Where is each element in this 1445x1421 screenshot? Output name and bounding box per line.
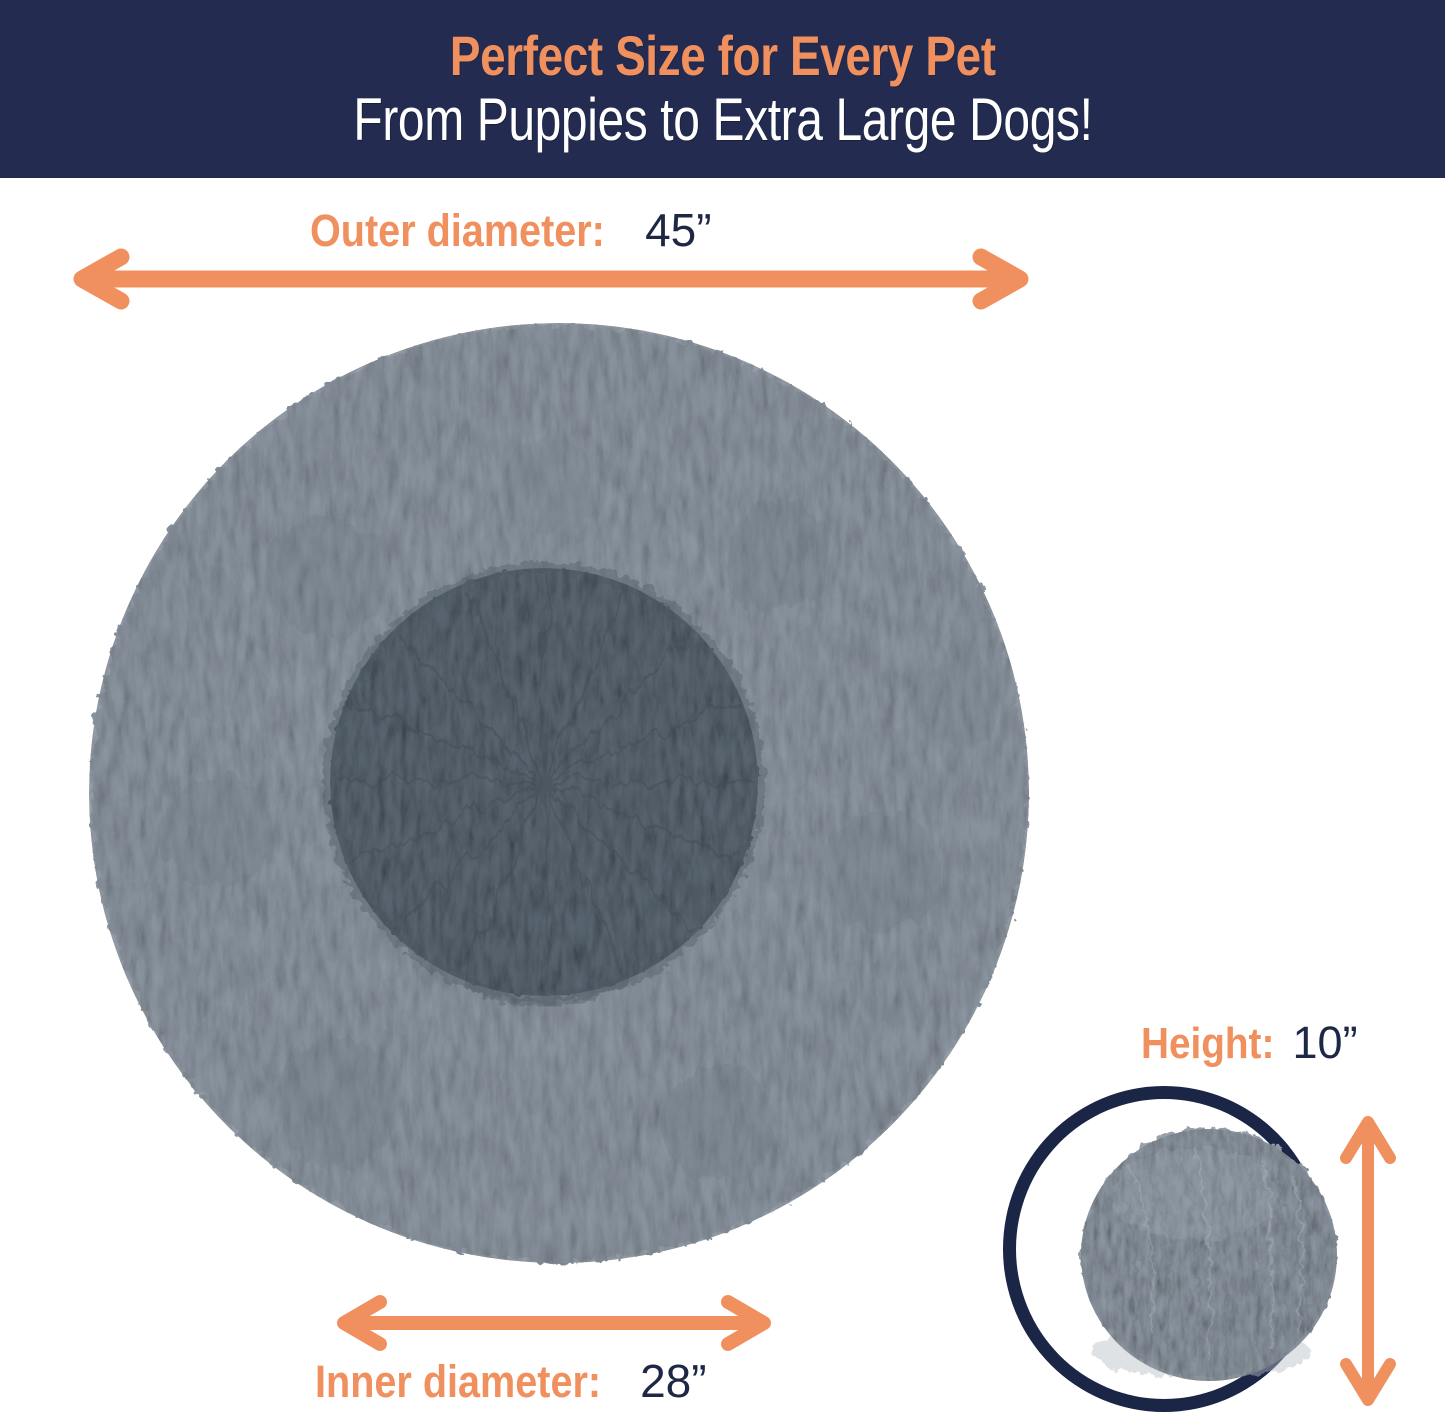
- infographic-canvas: Perfect Size for Every Pet From Puppies …: [0, 0, 1445, 1421]
- height-label-text: Height:: [1141, 1022, 1274, 1066]
- pet-bed-top-view: [78, 312, 1040, 1274]
- outer-diameter-arrow-icon: [66, 252, 1036, 306]
- height-value: 10”: [1293, 1020, 1358, 1065]
- subheadline: From Puppies to Extra Large Dogs!: [353, 90, 1092, 150]
- height-arrow-icon: [1336, 1110, 1400, 1412]
- outer-diameter-label-text: Outer diameter:: [310, 208, 605, 253]
- height-inset: [1003, 1086, 1325, 1412]
- inner-diameter-label-text: Inner diameter:: [315, 1359, 601, 1404]
- header-banner: Perfect Size for Every Pet From Puppies …: [0, 0, 1445, 178]
- inner-diameter-arrow-icon: [330, 1296, 778, 1350]
- inner-diameter-label: Inner diameter:28”: [315, 1358, 707, 1404]
- height-label: Height:10”: [1141, 1020, 1358, 1066]
- outer-diameter-value: 45”: [645, 207, 711, 253]
- headline: Perfect Size for Every Pet: [450, 28, 996, 84]
- outer-diameter-label: Outer diameter:45”: [310, 207, 712, 253]
- pet-bed-side-view: [1075, 1116, 1343, 1388]
- inner-diameter-value: 28”: [640, 1358, 706, 1404]
